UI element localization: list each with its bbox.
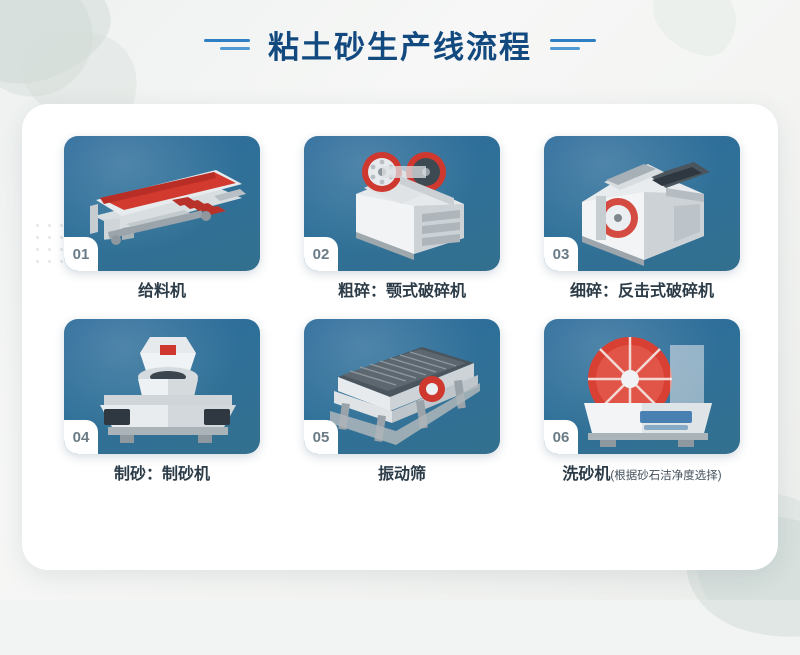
flow-card: 01 给料机: [22, 104, 778, 570]
page-header: 粘土砂生产线流程: [0, 22, 800, 67]
step-number: 03: [544, 237, 578, 271]
header-decoration-right-icon: [550, 39, 596, 50]
process-step[interactable]: 05 振动筛: [304, 319, 500, 484]
step-label: 制砂：制砂机: [114, 466, 210, 483]
page-title: 粘土砂生产线流程: [268, 22, 532, 67]
step-image[interactable]: 02: [304, 136, 500, 271]
step-caption: 洗砂机(根据砂石洁净度选择): [544, 465, 740, 484]
step-number: 06: [544, 420, 578, 454]
step-label: 洗砂机: [562, 466, 610, 483]
step-image[interactable]: 05: [304, 319, 500, 454]
step-number: 05: [304, 420, 338, 454]
process-step[interactable]: 01 给料机: [64, 136, 260, 301]
step-number: 02: [304, 237, 338, 271]
process-step[interactable]: 02 粗碎：颚式破碎机: [304, 136, 500, 301]
step-caption: 细碎：反击式破碎机: [544, 282, 740, 301]
step-number: 01: [64, 237, 98, 271]
process-step[interactable]: 04 制砂：制砂机: [64, 319, 260, 484]
step-caption: 制砂：制砂机: [64, 465, 260, 484]
header-decoration-left-icon: [204, 39, 250, 50]
step-image[interactable]: 06: [544, 319, 740, 454]
process-step[interactable]: 03 细碎：反击式破碎机: [544, 136, 740, 301]
step-caption: 给料机: [64, 282, 260, 301]
step-caption: 振动筛: [304, 465, 500, 484]
step-label: 振动筛: [378, 466, 426, 483]
step-label: 粗碎：颚式破碎机: [338, 283, 466, 300]
process-grid: 01 给料机: [64, 136, 740, 484]
step-number: 04: [64, 420, 98, 454]
step-image[interactable]: 03: [544, 136, 740, 271]
step-image[interactable]: 01: [64, 136, 260, 271]
step-label: 给料机: [138, 283, 186, 300]
step-image[interactable]: 04: [64, 319, 260, 454]
step-caption: 粗碎：颚式破碎机: [304, 282, 500, 301]
process-step[interactable]: 06 洗砂机(根据砂石洁净度选择): [544, 319, 740, 484]
step-label: 细碎：反击式破碎机: [570, 283, 714, 300]
page-root: 粘土砂生产线流程: [0, 0, 800, 600]
step-sublabel: (根据砂石洁净度选择): [610, 470, 721, 482]
